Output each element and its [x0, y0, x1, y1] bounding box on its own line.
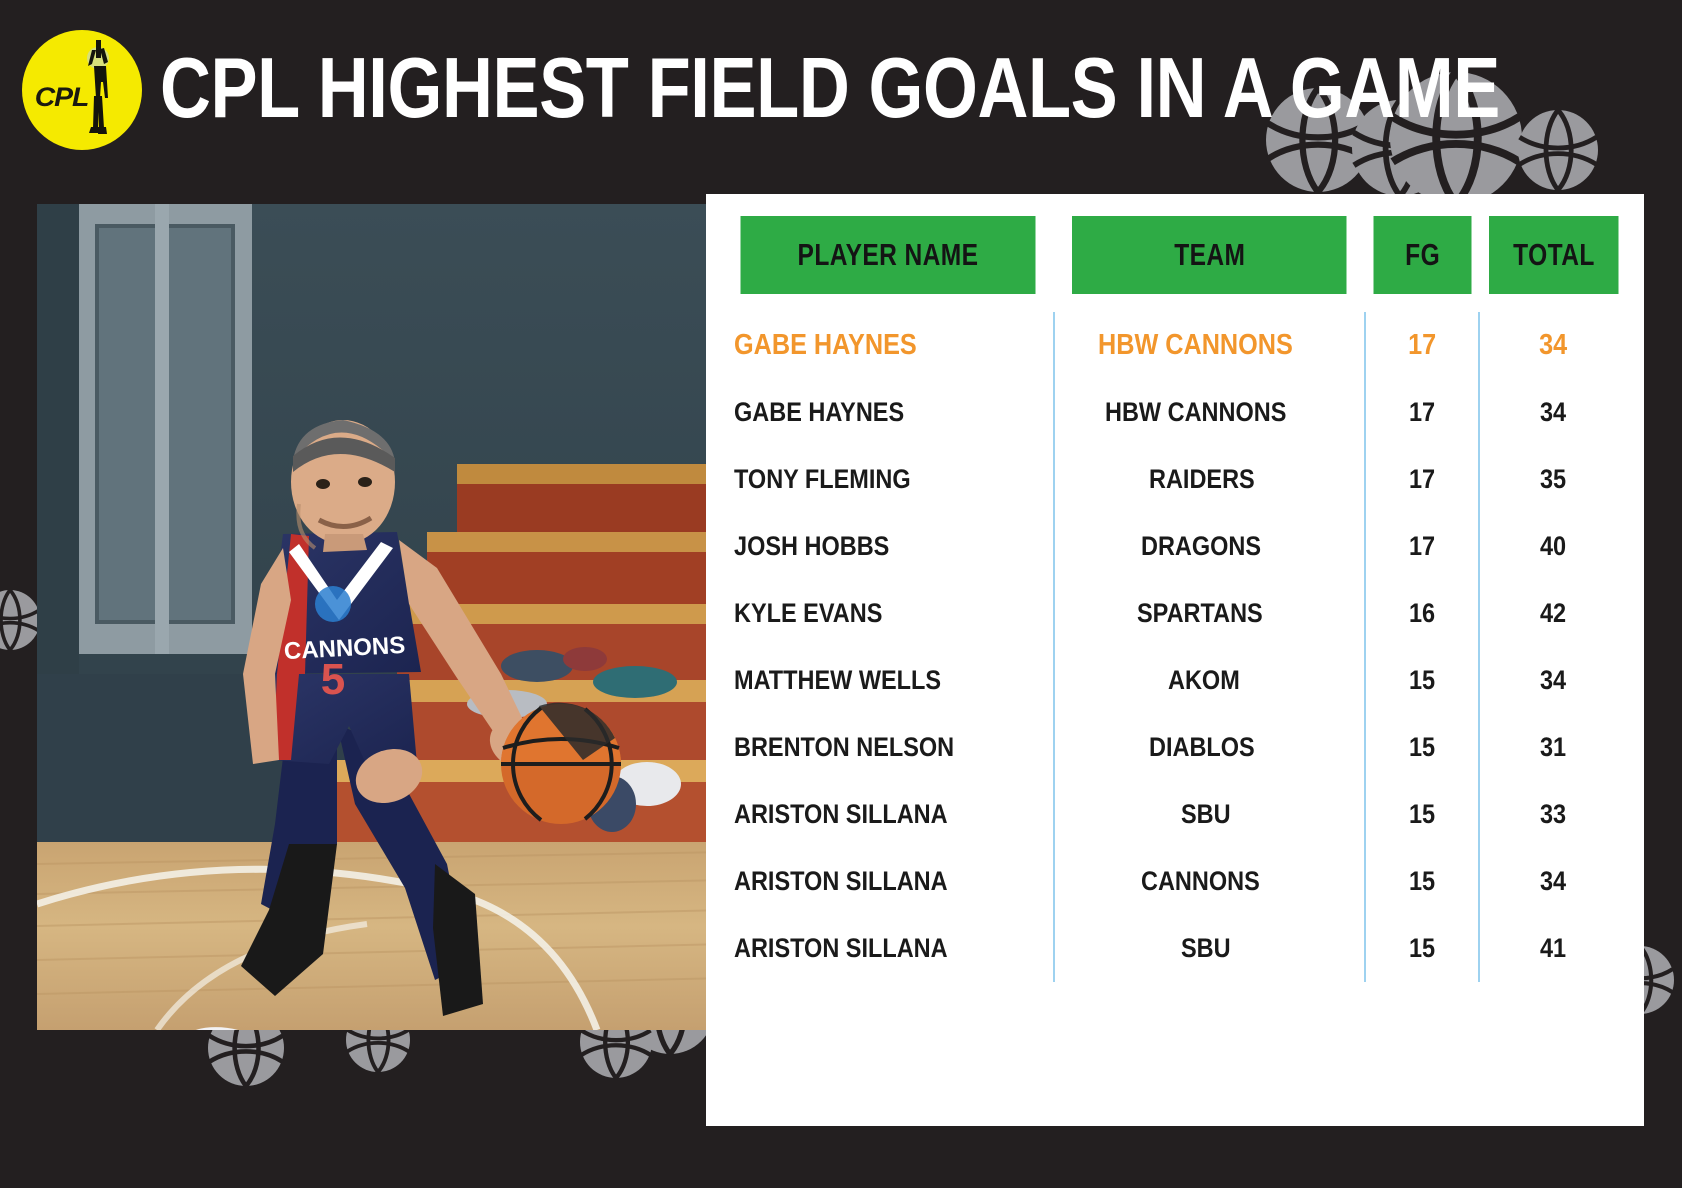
cell-team: SBU: [1054, 781, 1365, 848]
cell-team-text: DIABLOS: [1149, 732, 1255, 763]
cell-fg-text: 17: [1409, 397, 1435, 428]
table-row: JOSH HOBBSDRAGONS1740: [724, 513, 1626, 580]
cell-total-text: 34: [1540, 665, 1566, 696]
cell-fg-text: 15: [1409, 732, 1435, 763]
cell-fg: 17: [1365, 379, 1479, 446]
cell-fg: 15: [1365, 915, 1479, 982]
column-header-total: TOTAL: [1487, 216, 1619, 294]
cell-team-text: HBW CANNONS: [1105, 397, 1286, 428]
cell-player-name: ARISTON SILLANA: [724, 848, 1054, 915]
cell-team: HBW CANNONS: [1054, 312, 1365, 379]
cell-fg: 17: [1365, 312, 1479, 379]
cell-team-text: SBU: [1181, 799, 1231, 830]
cell-player-name-text: JOSH HOBBS: [734, 531, 889, 562]
basketball-player-icon: [74, 36, 130, 148]
cell-total-text: 34: [1540, 866, 1566, 897]
cell-team: DRAGONS: [1054, 513, 1365, 580]
cell-fg: 15: [1365, 781, 1479, 848]
cell-player-name: JOSH HOBBS: [724, 513, 1054, 580]
cell-player-name: ARISTON SILLANA: [724, 781, 1054, 848]
stats-card: PLAYER NAME TEAM FG TOTAL GABE HAYNESHBW…: [706, 194, 1644, 1126]
cell-player-name: GABE HAYNES: [724, 312, 1054, 379]
cell-player-name: TONY FLEMING: [724, 446, 1054, 513]
cell-total: 40: [1479, 513, 1626, 580]
cell-fg-text: 17: [1408, 329, 1436, 362]
cell-player-name-text: KYLE EVANS: [734, 598, 882, 629]
cell-fg-text: 15: [1409, 799, 1435, 830]
cell-total-text: 41: [1540, 933, 1566, 964]
table-row: MATTHEW WELLSAKOM1534: [724, 647, 1626, 714]
cell-team-text: DRAGONS: [1141, 531, 1261, 562]
cell-total: 34: [1479, 312, 1626, 379]
cell-fg-text: 15: [1409, 866, 1435, 897]
cell-total: 34: [1479, 379, 1626, 446]
cell-player-name: KYLE EVANS: [724, 580, 1054, 647]
page-header: CPL CPL HIGHEST FIELD GOALS IN A GAME: [0, 0, 1682, 175]
cell-player-name-text: ARISTON SILLANA: [734, 866, 948, 897]
basketball-icon: [0, 590, 40, 650]
cell-player-name-text: TONY FLEMING: [734, 464, 911, 495]
cell-fg: 15: [1365, 848, 1479, 915]
cell-total: 31: [1479, 714, 1626, 781]
cell-fg: 17: [1365, 446, 1479, 513]
cell-total-text: 40: [1540, 531, 1566, 562]
table-row: BRENTON NELSONDIABLOS1531: [724, 714, 1626, 781]
cell-fg-text: 15: [1409, 933, 1435, 964]
cell-team-text: SPARTANS: [1137, 598, 1263, 629]
cell-fg-text: 15: [1409, 665, 1435, 696]
cell-total: 35: [1479, 446, 1626, 513]
cell-total: 34: [1479, 647, 1626, 714]
player-photo-image: 5 CANNONS: [37, 204, 727, 1030]
cell-team: RAIDERS: [1054, 446, 1365, 513]
table-row: GABE HAYNESHBW CANNONS1734: [724, 379, 1626, 446]
table-row: GABE HAYNESHBW CANNONS1734: [724, 312, 1626, 379]
column-header-team: TEAM: [1070, 216, 1350, 294]
table-row: KYLE EVANSSPARTANS1642: [724, 580, 1626, 647]
cell-total-text: 35: [1540, 464, 1566, 495]
cell-total-text: 34: [1540, 397, 1566, 428]
player-photo: 5 CANNONS: [37, 204, 727, 1030]
cell-fg: 15: [1365, 714, 1479, 781]
cell-player-name-text: ARISTON SILLANA: [734, 933, 948, 964]
cpl-logo: CPL: [22, 30, 142, 150]
cell-total: 42: [1479, 580, 1626, 647]
stats-table-body: GABE HAYNESHBW CANNONS1734GABE HAYNESHBW…: [724, 312, 1626, 982]
cell-fg: 17: [1365, 513, 1479, 580]
column-header-player-name: PLAYER NAME: [741, 216, 1038, 294]
cell-player-name: ARISTON SILLANA: [724, 915, 1054, 982]
cell-team-text: RAIDERS: [1149, 464, 1255, 495]
cell-fg-text: 17: [1409, 531, 1435, 562]
stats-table-head: PLAYER NAME TEAM FG TOTAL: [724, 216, 1626, 312]
table-row: TONY FLEMINGRAIDERS1735: [724, 446, 1626, 513]
cell-fg: 15: [1365, 647, 1479, 714]
header-spacer: [724, 294, 1626, 312]
table-row: ARISTON SILLANASBU1541: [724, 915, 1626, 982]
stats-table: PLAYER NAME TEAM FG TOTAL GABE HAYNESHBW…: [724, 216, 1626, 982]
table-row: ARISTON SILLANACANNONS1534: [724, 848, 1626, 915]
table-header-row: PLAYER NAME TEAM FG TOTAL: [724, 216, 1626, 294]
cell-total-text: 42: [1540, 598, 1566, 629]
cell-team: AKOM: [1054, 647, 1365, 714]
cell-player-name-text: ARISTON SILLANA: [734, 799, 948, 830]
cell-team-text: AKOM: [1168, 665, 1240, 696]
cell-total: 41: [1479, 915, 1626, 982]
cell-team-text: HBW CANNONS: [1098, 329, 1293, 362]
cell-team: CANNONS: [1054, 848, 1365, 915]
page-title: CPL HIGHEST FIELD GOALS IN A GAME: [160, 46, 1500, 132]
cell-player-name-text: MATTHEW WELLS: [734, 665, 941, 696]
cell-total: 33: [1479, 781, 1626, 848]
cell-total-text: 33: [1540, 799, 1566, 830]
cell-player-name-text: GABE HAYNES: [734, 329, 917, 362]
cell-total-text: 31: [1540, 732, 1566, 763]
cell-team: HBW CANNONS: [1054, 379, 1365, 446]
cell-player-name: GABE HAYNES: [724, 379, 1054, 446]
cell-team: DIABLOS: [1054, 714, 1365, 781]
cell-total: 34: [1479, 848, 1626, 915]
cell-player-name-text: BRENTON NELSON: [734, 732, 954, 763]
cell-team: SBU: [1054, 915, 1365, 982]
cell-fg: 16: [1365, 580, 1479, 647]
cell-fg-text: 17: [1409, 464, 1435, 495]
cell-player-name: MATTHEW WELLS: [724, 647, 1054, 714]
cell-total-text: 34: [1539, 329, 1567, 362]
column-header-fg: FG: [1371, 216, 1474, 294]
table-row: ARISTON SILLANASBU1533: [724, 781, 1626, 848]
cell-team-text: SBU: [1181, 933, 1231, 964]
cell-player-name: BRENTON NELSON: [724, 714, 1054, 781]
cell-team: SPARTANS: [1054, 580, 1365, 647]
cell-player-name-text: GABE HAYNES: [734, 397, 904, 428]
cell-fg-text: 16: [1409, 598, 1435, 629]
cell-team-text: CANNONS: [1141, 866, 1260, 897]
